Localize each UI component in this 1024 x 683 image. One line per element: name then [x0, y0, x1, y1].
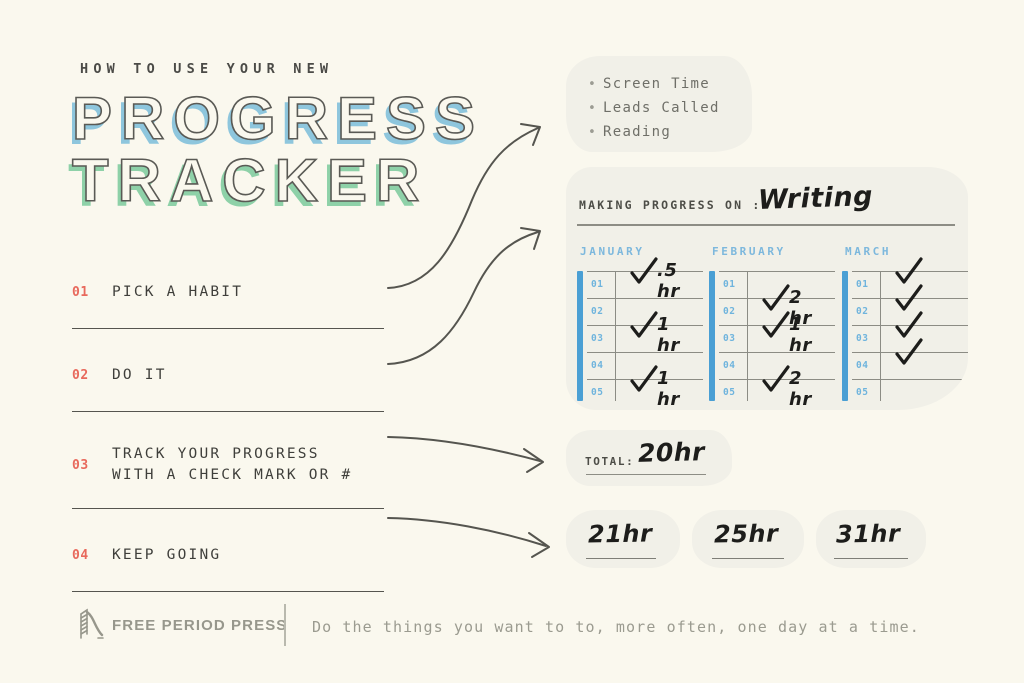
monthly-total-pill: 25hr	[692, 510, 804, 568]
pill-underline	[834, 558, 908, 559]
step-label: KEEP GOING	[112, 545, 221, 566]
bullet-icon: •	[588, 125, 603, 140]
step-number: 04	[72, 548, 112, 563]
row-day: 02	[591, 306, 603, 317]
row-day: 03	[856, 333, 868, 344]
step-label: DO IT	[112, 365, 167, 386]
row-hours: 1 hr	[657, 368, 680, 410]
row-day: 04	[591, 360, 603, 371]
step-number: 03	[72, 458, 112, 473]
pill-value: 25hr	[714, 519, 779, 548]
check-icon	[627, 364, 661, 398]
list-item: • Screen Time	[588, 76, 720, 92]
pill-underline	[712, 558, 784, 559]
pill-underline	[586, 558, 656, 559]
row-hours: 1 hr	[789, 314, 812, 356]
table-row: 01 .5 hr	[587, 271, 703, 298]
step-item: 04 KEEP GOING	[72, 531, 384, 592]
row-hours: .5 hr	[657, 260, 680, 302]
step-item: 02 DO IT	[72, 351, 384, 412]
check-icon	[892, 337, 926, 371]
month-accent-bar	[577, 271, 583, 401]
check-icon	[627, 256, 661, 290]
row-hours: 2 hr	[789, 368, 812, 410]
list-item-label: Reading	[603, 124, 671, 140]
monthly-total-pill: 31hr	[816, 510, 926, 568]
brand-logo: FREE PERIOD PRESS	[72, 608, 287, 642]
row-day: 01	[591, 279, 603, 290]
list-item-label: Leads Called	[603, 100, 720, 116]
month-header: FEBRUARY	[712, 245, 786, 258]
brand-name: FREE PERIOD PRESS	[112, 617, 287, 634]
table-row: 04	[852, 352, 968, 379]
row-day: 05	[591, 387, 603, 398]
table-row: 05	[852, 379, 968, 406]
month-accent-bar	[842, 271, 848, 401]
bullet-icon: •	[588, 101, 603, 116]
table-row: 03 1 hr	[719, 325, 835, 352]
row-hours: 1 hr	[657, 314, 680, 356]
slide-icon	[72, 608, 106, 642]
list-item: • Leads Called	[588, 100, 720, 116]
title-line-1: PROGRESS	[72, 88, 484, 150]
step-item: 03 TRACK YOUR PROGRESS WITH A CHECK MARK…	[72, 434, 384, 509]
list-item: • Reading	[588, 124, 720, 140]
month-accent-bar	[709, 271, 715, 401]
row-day: 01	[723, 279, 735, 290]
month-table-january: 01 .5 hr 02 03	[577, 271, 703, 406]
table-row: 03 1 hr	[587, 325, 703, 352]
step-label: PICK A HABIT	[112, 282, 243, 303]
habit-underline	[577, 224, 955, 226]
total-card: TOTAL: 20hr	[566, 430, 732, 486]
row-day: 03	[723, 333, 735, 344]
bullet-icon: •	[588, 77, 603, 92]
kicker-text: HOW TO USE YOUR NEW	[80, 61, 333, 77]
infographic-canvas: HOW TO USE YOUR NEW PROGRESS TRACKER 01 …	[0, 0, 1024, 683]
row-day: 05	[856, 387, 868, 398]
check-icon	[759, 364, 793, 398]
row-day: 04	[856, 360, 868, 371]
step-number: 02	[72, 368, 112, 383]
habit-value: Writing	[757, 181, 873, 216]
month-table-february: 01 02 2 hr 03	[709, 271, 835, 406]
tracker-card: MAKING PROGRESS ON : Writing JANUARY FEB…	[566, 167, 968, 410]
title-line-2: TRACKER	[72, 150, 484, 212]
row-day: 05	[723, 387, 735, 398]
step-item: 01 PICK A HABIT	[72, 268, 384, 329]
pill-value: 31hr	[836, 519, 901, 548]
row-day: 01	[856, 279, 868, 290]
footer-divider	[284, 604, 286, 646]
making-progress-label: MAKING PROGRESS ON :	[579, 198, 761, 212]
table-row: 05 2 hr	[719, 379, 835, 406]
total-underline	[586, 474, 706, 475]
check-icon	[759, 310, 793, 344]
total-value: 20hr	[638, 437, 706, 468]
check-icon	[627, 310, 661, 344]
habit-examples-card: • Screen Time • Leads Called • Reading	[566, 56, 752, 152]
steps-list: 01 PICK A HABIT 02 DO IT 03 TRACK YOUR P…	[72, 268, 384, 592]
table-row: 05 1 hr	[587, 379, 703, 406]
month-header: MARCH	[845, 245, 891, 258]
list-item-label: Screen Time	[603, 76, 710, 92]
row-day: 04	[723, 360, 735, 371]
month-table-march: 01 02 03	[842, 271, 968, 406]
total-label: TOTAL:	[585, 455, 634, 468]
step-label: TRACK YOUR PROGRESS WITH A CHECK MARK OR…	[112, 444, 352, 486]
pill-value: 21hr	[588, 519, 653, 548]
footer-tagline: Do the things you want to to, more often…	[312, 618, 920, 636]
row-day: 02	[856, 306, 868, 317]
row-day: 03	[591, 333, 603, 344]
habit-examples-list: • Screen Time • Leads Called • Reading	[588, 76, 720, 148]
monthly-total-pill: 21hr	[566, 510, 680, 568]
row-day: 02	[723, 306, 735, 317]
page-title: PROGRESS TRACKER	[72, 88, 484, 212]
step-number: 01	[72, 285, 112, 300]
